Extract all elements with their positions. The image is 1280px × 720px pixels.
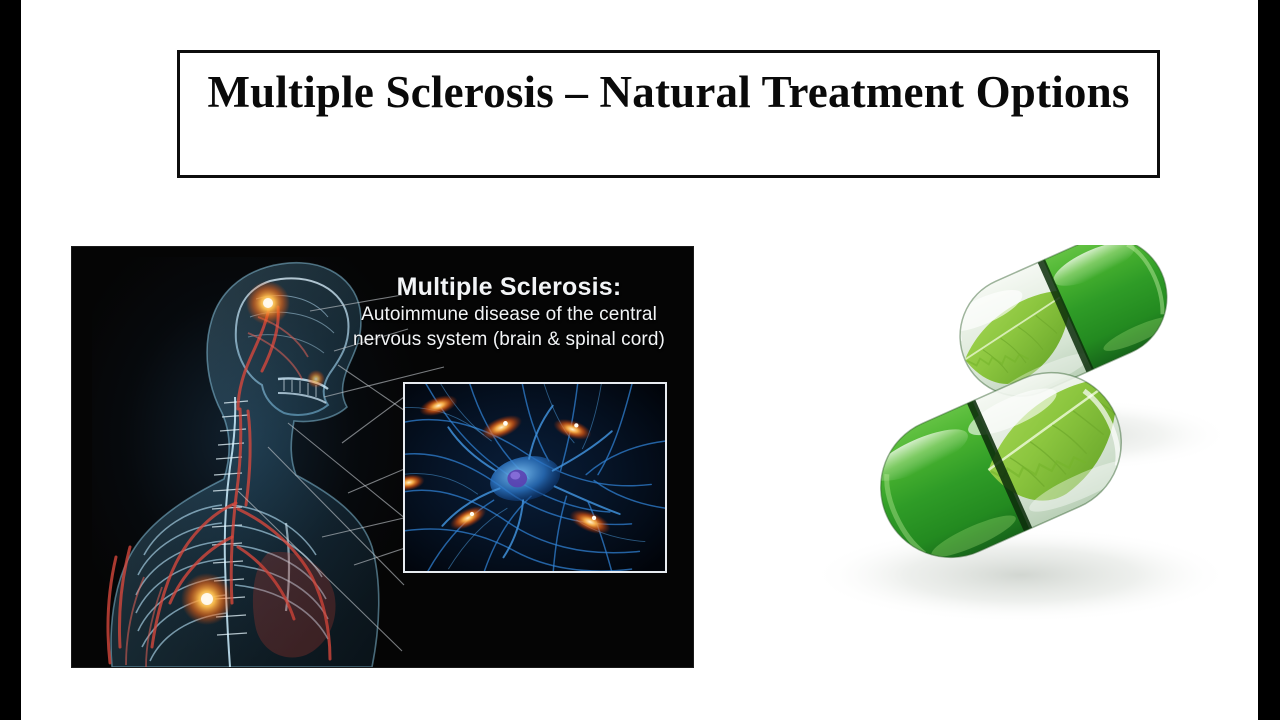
photo-caption-heading: Multiple Sclerosis: [334, 272, 684, 302]
photo-caption: Multiple Sclerosis: Autoimmune disease o… [334, 272, 684, 352]
page-title: Multiple Sclerosis – Natural Treatment O… [180, 63, 1157, 121]
letterbox-bar-right [1258, 0, 1280, 720]
slide-root: Multiple Sclerosis – Natural Treatment O… [0, 0, 1280, 720]
neuron-network-inset [403, 382, 667, 573]
slide-canvas: Multiple Sclerosis – Natural Treatment O… [21, 0, 1258, 720]
ms-anatomy-image: Multiple Sclerosis: Autoimmune disease o… [72, 247, 693, 667]
neuron-network-icon [405, 384, 665, 572]
title-box: Multiple Sclerosis – Natural Treatment O… [177, 50, 1160, 178]
photo-caption-line-1: Autoimmune disease of the central [334, 302, 684, 327]
letterbox-bar-left [0, 0, 21, 720]
green-capsules-image [721, 245, 1221, 645]
photo-caption-line-2: nervous system (brain & spinal cord) [334, 327, 684, 352]
green-capsules-icon [721, 245, 1221, 645]
ms-anatomy-image-inner: Multiple Sclerosis: Autoimmune disease o… [72, 247, 693, 667]
